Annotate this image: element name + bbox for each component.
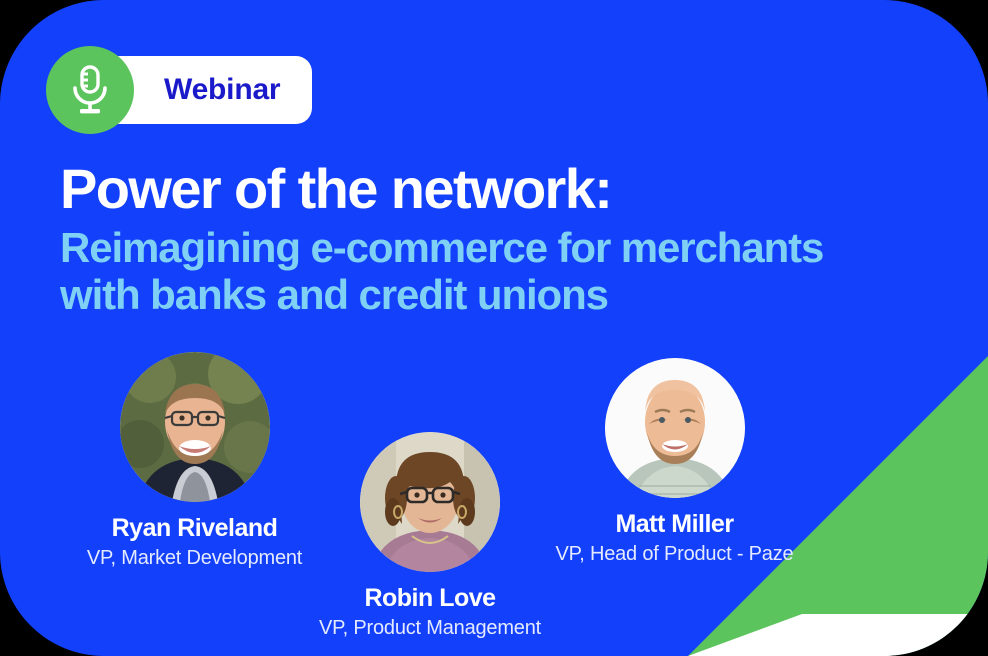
webinar-badge: Webinar [46, 46, 312, 134]
microphone-icon [68, 64, 112, 116]
webinar-pill: Webinar [112, 56, 312, 124]
speaker-role: VP, Head of Product - Paze [508, 543, 841, 566]
webinar-promo-card: Webinar Power of the network: Reimaginin… [0, 0, 988, 656]
speaker-card-matt-miller: Matt Miller VP, Head of Product - Paze [508, 358, 841, 566]
avatar [120, 352, 270, 502]
white-notch-shape [688, 614, 988, 656]
page-subtitle: Reimagining e-commerce for merchants wit… [60, 224, 940, 318]
subtitle-line-1: Reimagining e-commerce for merchants [60, 224, 940, 271]
title-block: Power of the network: Reimagining e-comm… [60, 160, 940, 318]
webinar-badge-label: Webinar [164, 75, 280, 105]
speaker-role: VP, Product Management [280, 617, 580, 640]
page-title: Power of the network: [60, 160, 940, 218]
subtitle-line-2: with banks and credit unions [60, 271, 940, 318]
avatar [605, 358, 745, 498]
avatar [360, 432, 500, 572]
mic-icon-circle [46, 46, 134, 134]
speaker-name: Robin Love [280, 585, 580, 613]
speaker-name: Matt Miller [508, 511, 841, 539]
